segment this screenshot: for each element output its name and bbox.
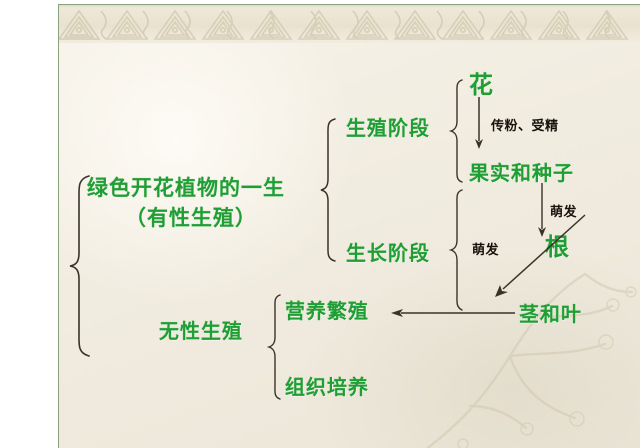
- stage-brace: [319, 117, 339, 263]
- arrow-germination-to-stem-leaf: [489, 213, 589, 299]
- leaf-label-stem-leaf: 茎和叶: [519, 298, 582, 327]
- branch-label-growth: 生长阶段: [346, 237, 430, 266]
- slide-screenshot: 绿色开花植物的一生 （有性生殖） 生殖阶段 生长阶段 花 传粉、受精: [0, 0, 640, 448]
- leaf-label-tissue-culture: 组织培养: [285, 371, 369, 400]
- edge-label-germination-stem: 萌发: [472, 239, 499, 258]
- root-brace: [65, 173, 93, 359]
- reproductive-brace: [449, 78, 465, 184]
- root-node-line1: 绿色开花植物的一生: [87, 172, 285, 202]
- arrow-flower-to-fruit: [471, 97, 487, 153]
- arrow-stemleaf-to-vegetative: [389, 305, 517, 321]
- leaf-label-flower: 花: [469, 65, 494, 100]
- top-ornament-band: [59, 5, 640, 43]
- growth-brace: [449, 188, 465, 312]
- leaf-label-vegetative: 营养繁殖: [285, 295, 369, 324]
- root-node-line2: （有性生殖）: [125, 202, 257, 232]
- leaf-label-fruit-seed: 果实和种子: [469, 157, 574, 186]
- branch-label-reproductive: 生殖阶段: [346, 112, 430, 141]
- asexual-brace: [267, 293, 283, 401]
- edge-label-pollination: 传粉、受精: [491, 115, 559, 134]
- triangle-band-icon: [59, 5, 640, 43]
- branch-label-asexual: 无性生殖: [159, 315, 243, 344]
- slide-canvas: 绿色开花植物的一生 （有性生殖） 生殖阶段 生长阶段 花 传粉、受精: [58, 4, 640, 448]
